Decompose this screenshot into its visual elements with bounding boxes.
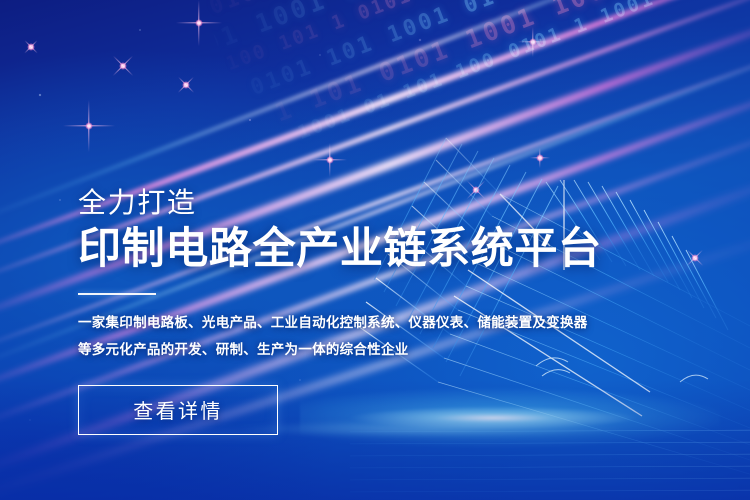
hero-eyebrow: 全力打造 [78, 188, 638, 219]
hero-banner: 101 100 101 1001 101 100 1 101 1001 01 1… [0, 0, 750, 500]
hero-divider [78, 293, 156, 295]
hero-description-line-2: 等多元化产品的开发、研制、生产为一体的综合性企业 [78, 336, 638, 363]
view-details-button[interactable]: 查看详情 [78, 385, 278, 435]
hero-headline: 印制电路全产业链系统平台 [78, 225, 638, 275]
hero-content: 全力打造 印制电路全产业链系统平台 一家集印制电路板、光电产品、工业自动化控制系… [78, 188, 638, 435]
hero-description-line-1: 一家集印制电路板、光电产品、工业自动化控制系统、仪器仪表、储能装置及变换器 [78, 309, 638, 336]
